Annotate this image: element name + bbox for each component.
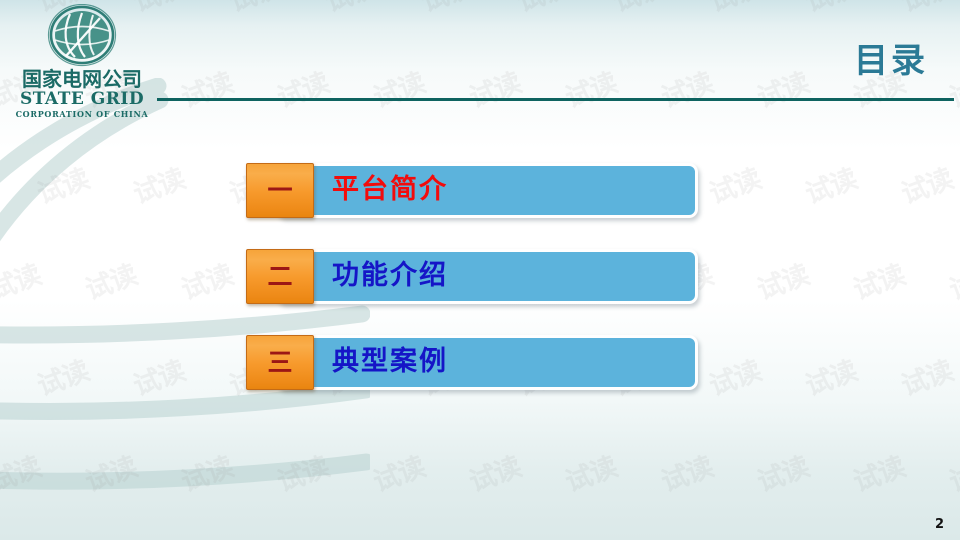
watermark-glyph: 试读 (118, 310, 241, 433)
background-globe-decoration (0, 78, 370, 540)
watermark-glyph: 试读 (0, 502, 50, 540)
watermark-glyph: 试读 (790, 310, 913, 433)
watermark-glyph: 试读 (886, 502, 960, 540)
agenda-item-1[interactable]: 平台简介 一 (246, 163, 314, 218)
state-grid-globe-emblem (30, 4, 134, 68)
watermark-glyph: 试读 (70, 214, 193, 337)
watermark-glyph: 试读 (166, 406, 289, 529)
agenda-numeral-2: 二 (267, 264, 292, 289)
watermark-glyph: 试读 (22, 118, 145, 241)
logo-name-cn: 国家电网公司 (8, 69, 156, 90)
agenda-numeral-1: 一 (267, 178, 292, 203)
state-grid-logo: 国家电网公司 STATE GRID CORPORATION OF CHINA (8, 4, 156, 119)
watermark-glyph: 试读 (70, 406, 193, 529)
watermark-glyph: 试读 (598, 502, 721, 540)
watermark-glyph: 试读 (358, 22, 481, 145)
agenda-label-1: 平台简介 (332, 163, 448, 218)
agenda-item-3[interactable]: 典型案例 三 (246, 335, 314, 390)
agenda-item-2[interactable]: 功能介绍 二 (246, 249, 314, 304)
logo-subtitle-en: CORPORATION OF CHINA (8, 109, 156, 119)
watermark-glyph: 试读 (0, 214, 98, 337)
watermark-glyph: 试读 (502, 502, 625, 540)
agenda-label-3: 典型案例 (332, 335, 448, 390)
watermark-glyph: 试读 (22, 502, 145, 540)
watermark-glyph: 试读 (694, 502, 817, 540)
watermark-glyph: 试读 (262, 406, 385, 529)
watermark-glyph: 试读 (118, 502, 241, 540)
watermark-glyph: 试读 (454, 406, 577, 529)
watermark-glyph: 试读 (742, 22, 865, 145)
title-divider-rule (157, 98, 954, 101)
page-number: 2 (935, 517, 944, 532)
watermark-glyph: 试读 (454, 22, 577, 145)
watermark-glyph: 试读 (742, 406, 865, 529)
agenda-list: 平台简介 一 功能介绍 二 典型案例 三 (246, 163, 314, 390)
watermark-glyph: 试读 (310, 0, 433, 50)
watermark-glyph: 试读 (598, 0, 721, 50)
agenda-numeral-box-1[interactable]: 一 (246, 163, 314, 218)
watermark-glyph: 试读 (694, 0, 817, 50)
slide-canvas: 试读试读试读试读试读试读试读试读试读试读试读试读 试读试读试读试读试读试读试读试… (0, 0, 960, 540)
logo-name-en: STATE GRID (8, 90, 156, 109)
watermark-glyph: 试读 (502, 0, 625, 50)
agenda-label-2: 功能介绍 (332, 249, 448, 304)
watermark-glyph: 试读 (262, 22, 385, 145)
watermark-glyph: 试读 (934, 406, 960, 529)
watermark-glyph: 试读 (694, 118, 817, 241)
watermark-glyph: 试读 (310, 502, 433, 540)
watermark-glyph: 试读 (934, 214, 960, 337)
agenda-numeral-3: 三 (267, 350, 292, 375)
watermark-glyph: 试读 (214, 502, 337, 540)
watermark-glyph: 试读 (646, 406, 769, 529)
watermark-glyph: 试读 (838, 214, 960, 337)
agenda-numeral-box-3[interactable]: 三 (246, 335, 314, 390)
watermark-glyph: 试读 (790, 118, 913, 241)
watermark-glyph: 试读 (886, 118, 960, 241)
watermark-glyph: 试读 (406, 502, 529, 540)
watermark-glyph: 试读 (742, 214, 865, 337)
watermark-glyph: 试读 (214, 0, 337, 50)
watermark-glyph: 试读 (166, 22, 289, 145)
watermark-glyph: 试读 (406, 0, 529, 50)
agenda-numeral-box-2[interactable]: 二 (246, 249, 314, 304)
watermark-glyph: 试读 (0, 406, 98, 529)
watermark-glyph: 试读 (694, 310, 817, 433)
watermark-glyph: 试读 (0, 310, 50, 433)
watermark-glyph: 试读 (550, 406, 673, 529)
watermark-glyph: 试读 (886, 310, 960, 433)
watermark-glyph: 试读 (550, 22, 673, 145)
watermark-glyph: 试读 (646, 22, 769, 145)
watermark-glyph: 试读 (0, 118, 50, 241)
watermark-glyph: 试读 (118, 118, 241, 241)
watermark-glyph: 试读 (838, 406, 960, 529)
page-title: 目录 (854, 33, 928, 82)
watermark-glyph: 试读 (22, 310, 145, 433)
watermark-glyph: 试读 (358, 406, 481, 529)
watermark-glyph: 试读 (790, 502, 913, 540)
watermark-glyph: 试读 (934, 22, 960, 145)
